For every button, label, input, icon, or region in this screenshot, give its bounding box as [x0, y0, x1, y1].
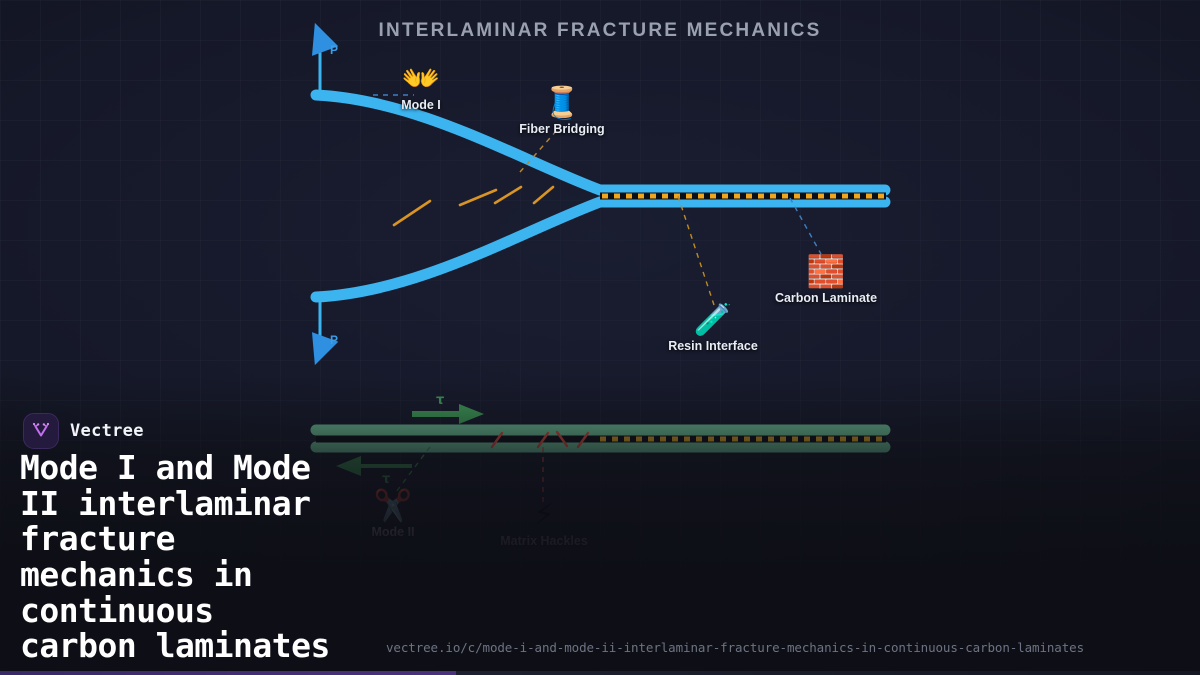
thread-spool-emoji: 🧵: [477, 86, 647, 120]
brand-lockup: Vectree: [23, 413, 144, 449]
annotation-resin-interface: 🧪 Resin Interface: [628, 303, 798, 353]
annotation-label-fiber-bridging: Fiber Bridging: [477, 122, 647, 136]
annotation-label-resin-interface: Resin Interface: [628, 339, 798, 353]
headline: Mode I and Mode II interlaminar fracture…: [20, 450, 760, 664]
vectree-logo-mark: [30, 420, 52, 442]
vectree-logo: [23, 413, 59, 449]
load-label-p-bottom: P: [330, 333, 338, 347]
bridging-fibers: [394, 187, 553, 225]
annotation-carbon-laminate: 🧱 Carbon Laminate: [741, 255, 911, 305]
leader-resin: [678, 196, 714, 305]
test-tube-emoji: 🧪: [628, 303, 798, 337]
mode-i-load-arrows: [302, 18, 339, 370]
brick-emoji: 🧱: [741, 255, 911, 289]
accent-bar: [0, 671, 1200, 675]
load-label-p-top: P: [330, 43, 338, 57]
brand-name: Vectree: [70, 421, 144, 441]
annotation-label-carbon-laminate: Carbon Laminate: [741, 291, 911, 305]
annotation-fiber-bridging: 🧵 Fiber Bridging: [477, 86, 647, 136]
social-card-canvas: INTERLAMINAR FRACTURE MECHANICS: [0, 0, 1200, 675]
shear-label-tau-top: τ: [436, 393, 444, 408]
article-url: vectree.io/c/mode-i-and-mode-ii-interlam…: [386, 640, 1084, 655]
